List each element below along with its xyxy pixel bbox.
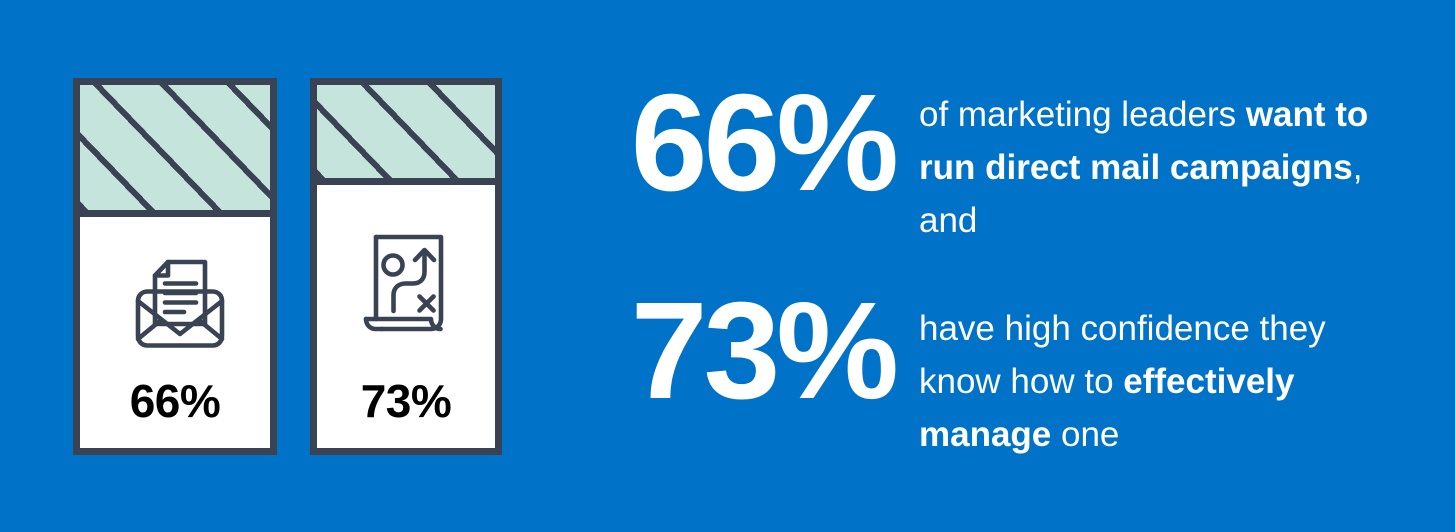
- bar-column-direct-mail: 66%: [73, 78, 277, 455]
- infographic-banner: 66%: [0, 0, 1455, 532]
- stat-number: 66%: [540, 80, 895, 207]
- stats-panel: 66% of marketing leaders want to run dir…: [540, 0, 1455, 532]
- bar-hatch-segment: [80, 85, 270, 217]
- strategy-plan-page-icon: [353, 185, 459, 378]
- bar-chart: 66%: [0, 0, 540, 532]
- stat-row-direct-mail: 66% of marketing leaders want to run dir…: [540, 80, 1389, 248]
- open-envelope-with-letter-icon: [116, 217, 234, 378]
- stat-description-lead: of marketing leaders: [919, 95, 1246, 134]
- bar-value-label: 66%: [130, 378, 221, 424]
- bar-hatch-segment: [317, 85, 495, 185]
- bar-value-label: 73%: [361, 378, 452, 424]
- stat-number: 73%: [540, 288, 895, 415]
- stat-description: have high confidence they know how to ef…: [919, 288, 1389, 462]
- bar-body-segment: 73%: [317, 185, 495, 448]
- stat-description-tail: one: [1051, 415, 1119, 454]
- bar-column-confidence: 73%: [310, 78, 502, 455]
- stat-row-confidence: 73% have high confidence they know how t…: [540, 288, 1389, 462]
- stat-description: of marketing leaders want to run direct …: [919, 80, 1389, 248]
- bar-body-segment: 66%: [80, 217, 270, 448]
